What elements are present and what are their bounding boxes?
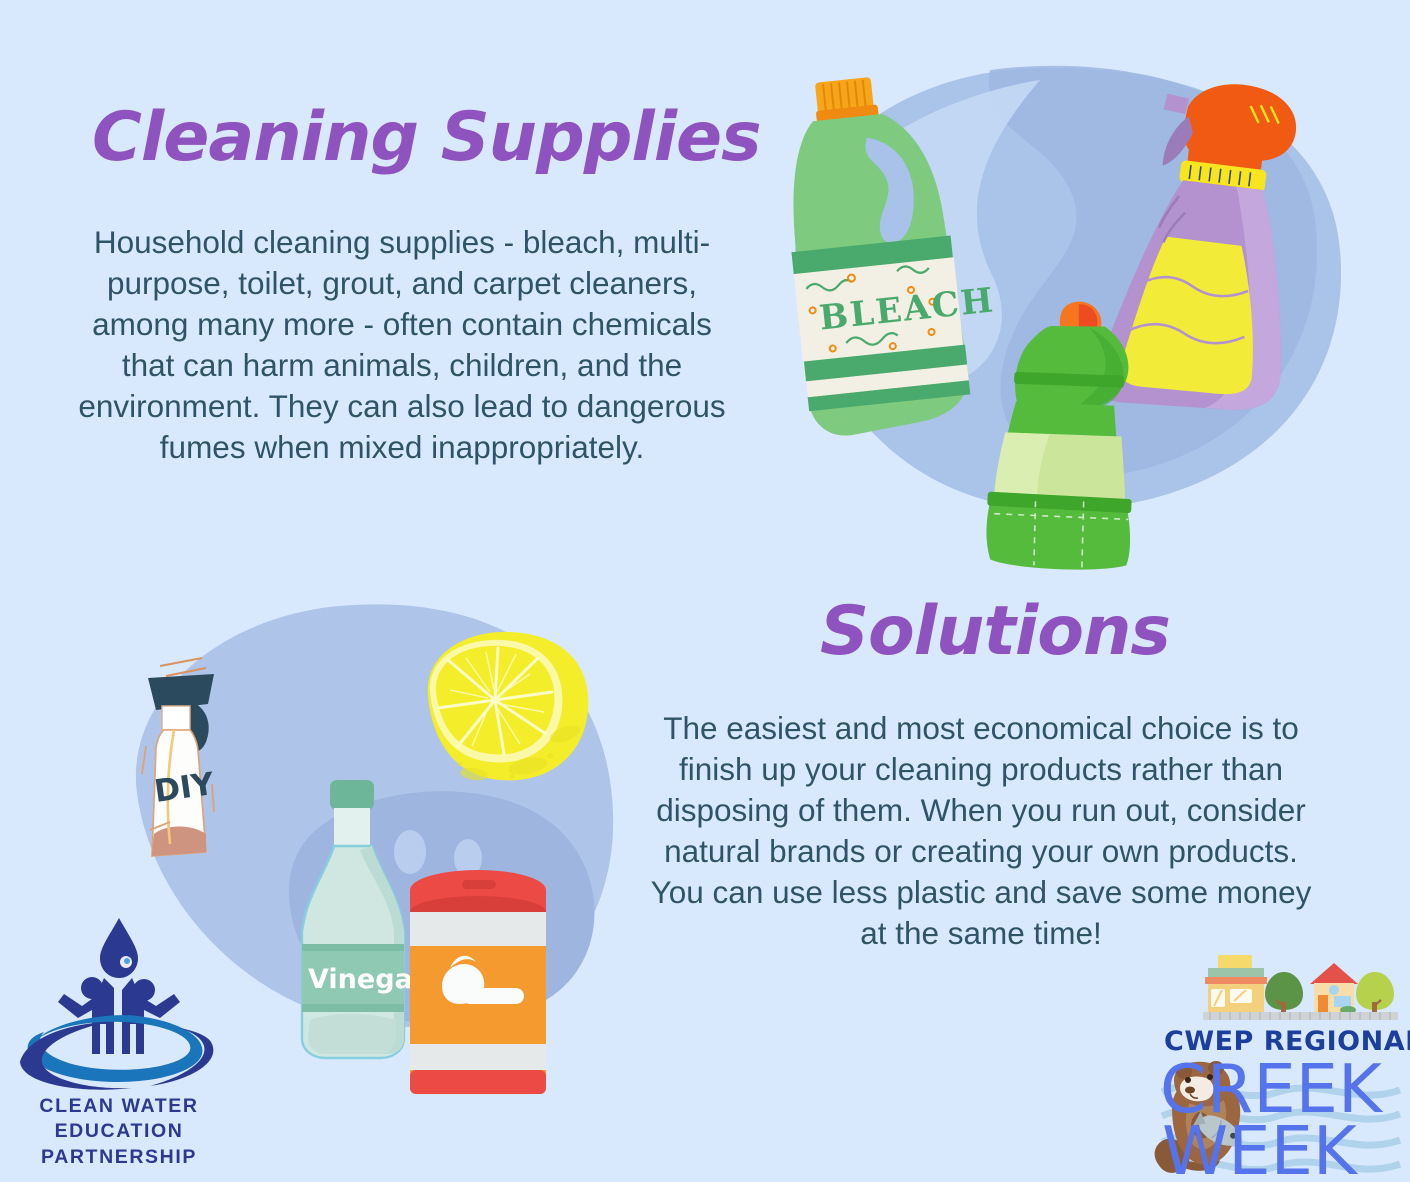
bakingsoda-band-top — [410, 912, 546, 946]
body-text-cleaning-supplies: Household cleaning supplies - bleach, mu… — [66, 222, 738, 468]
vinegar-label-edge-top — [302, 944, 404, 951]
town-scene — [1203, 955, 1398, 1020]
vinegar-cap — [330, 780, 374, 810]
diy-bottle-liquid — [152, 827, 206, 857]
cwep-wordmark-line-3: PARTNERSHIP — [14, 1145, 224, 1170]
cleaning-products-illustration: BLEACH — [740, 40, 1400, 560]
bakingsoda-base — [410, 1070, 546, 1094]
cwep-logo-mark — [14, 912, 224, 1092]
body-text-solutions: The easiest and most economical choice i… — [645, 708, 1317, 954]
bakingsoda-band-bottom — [410, 1044, 546, 1070]
creekweek-big-line-2: WEEK — [1162, 1112, 1359, 1182]
diy-bottle-neck — [162, 706, 190, 730]
cleaning-products-svg: BLEACH — [740, 40, 1400, 560]
vinegar-liquid-bottom — [308, 1014, 396, 1054]
cwep-wordmark: CLEAN WATER EDUCATION PARTNERSHIP — [14, 1094, 224, 1170]
page-title-solutions: Solutions — [820, 598, 1170, 666]
house-building — [1310, 963, 1358, 1014]
water-ripple-swoosh — [20, 1015, 213, 1090]
cwep-wordmark-line-1: CLEAN WATER — [14, 1094, 224, 1119]
tree-light-icon — [1356, 972, 1394, 1014]
shop-building — [1205, 955, 1267, 1012]
page-title-cleaning-supplies: Cleaning Supplies — [92, 104, 761, 172]
creek-week-logo-svg: CWEP REGIONAL CREEK WEEK — [1148, 950, 1406, 1180]
cwep-regional-creek-week-logo[interactable]: CWEP REGIONAL CREEK WEEK — [1148, 950, 1406, 1180]
infographic-canvas: BLEACH — [0, 0, 1410, 1182]
water-drop-icon — [100, 918, 138, 978]
bakingsoda-lid-notch — [462, 880, 496, 889]
clean-water-education-partnership-logo[interactable]: CLEAN WATER EDUCATION PARTNERSHIP — [14, 912, 224, 1174]
baking-soda-container — [410, 870, 546, 1094]
vinegar-label-edge-bottom — [302, 1004, 404, 1012]
vinegar-label-text: Vinegar — [308, 964, 427, 995]
tree-dark-icon — [1265, 972, 1303, 1014]
cwep-wordmark-line-2: EDUCATION — [14, 1119, 224, 1144]
